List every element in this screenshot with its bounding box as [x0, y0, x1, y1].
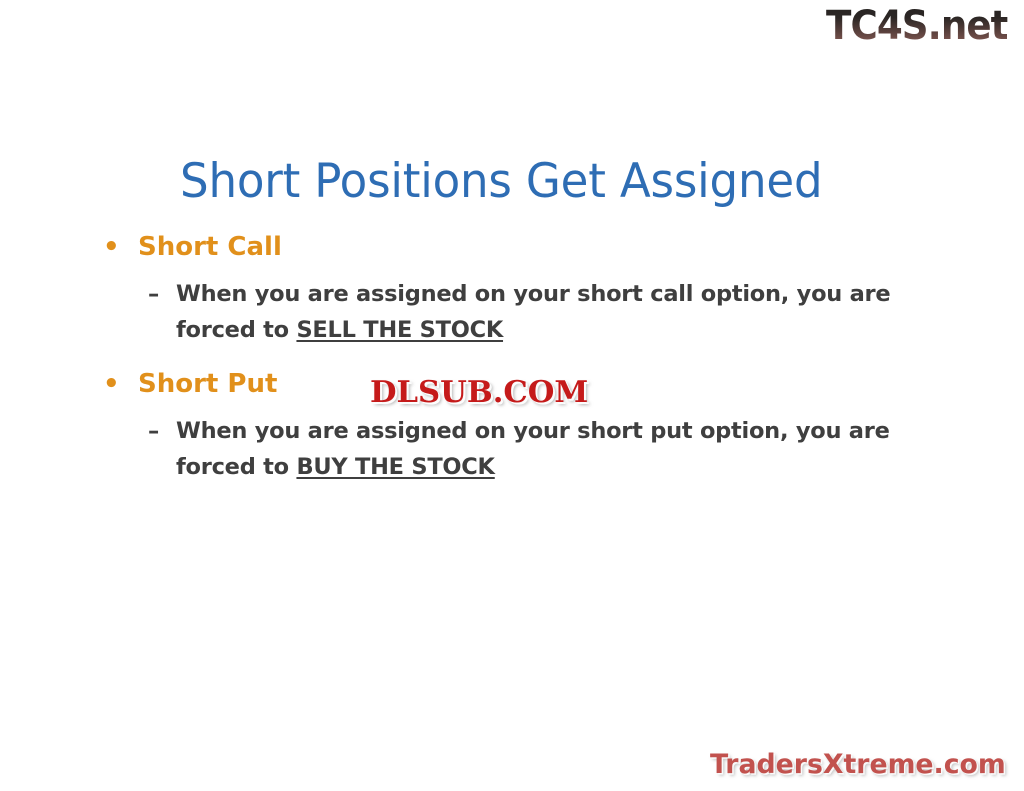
bullet-icon: • — [103, 228, 120, 266]
tradersxtreme-brand-logo: TradersXtreme.com — [710, 748, 1006, 782]
detail-text: When you are assigned on your short call… — [176, 281, 890, 343]
dash-icon: – — [148, 413, 159, 449]
tc4s-site-logo: TC4S.net — [826, 2, 1008, 50]
slide-canvas: TC4S.net Short Positions Get Assigned • … — [0, 0, 1024, 791]
spacer — [0, 266, 1024, 276]
bullet-list: • Short Call –When you are assigned on y… — [0, 228, 1024, 485]
dash-icon: – — [148, 276, 159, 312]
list-item-detail-short-call: –When you are assigned on your short cal… — [0, 276, 1024, 348]
detail-emphasis: BUY THE STOCK — [296, 454, 494, 480]
detail-text: When you are assigned on your short put … — [176, 418, 890, 480]
dlsub-watermark-text: DLSUB.COM — [370, 375, 588, 410]
spacer — [0, 348, 1024, 365]
heading-label: Short Put — [138, 369, 277, 399]
heading-label: Short Call — [138, 232, 282, 262]
detail-emphasis: SELL THE STOCK — [296, 317, 503, 343]
bullet-icon: • — [103, 365, 120, 403]
list-item-detail-short-put: –When you are assigned on your short put… — [0, 413, 1024, 485]
list-item-heading-short-call: • Short Call — [0, 228, 1024, 266]
page-title: Short Positions Get Assigned — [180, 153, 822, 211]
dlsub-watermark: DLSUB.COM — [370, 374, 588, 412]
